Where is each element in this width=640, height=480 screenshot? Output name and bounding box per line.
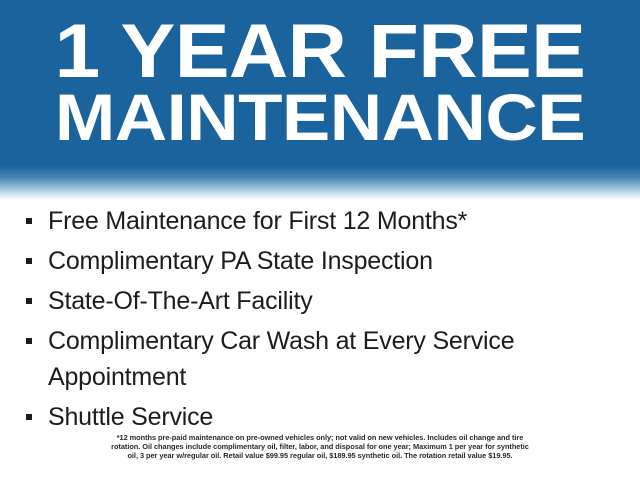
list-item-label: Complimentary Car Wash at Every Service … [48, 323, 640, 395]
square-bullet-icon [26, 258, 32, 264]
promo-headline-line-1: 1 YEAR FREE [0, 14, 640, 90]
disclaimer-line-3: oil, 3 per year w/regular oil. Retail va… [36, 451, 604, 460]
square-bullet-icon [26, 298, 32, 304]
disclaimer-line-2: rotation. Oil changes include compliment… [36, 442, 604, 451]
list-item: Complimentary PA State Inspection [0, 243, 640, 279]
list-item: Free Maintenance for First 12 Months* [0, 203, 640, 239]
list-item: Complimentary Car Wash at Every Service … [0, 323, 640, 395]
service-promo-card: 1 YEAR FREE MAINTENANCE Free Maintenance… [0, 0, 640, 480]
list-item-label: State-Of-The-Art Facility [48, 283, 640, 319]
square-bullet-icon [26, 218, 32, 224]
list-item-label: Shuttle Service [48, 399, 640, 435]
disclaimer-line-1: *12 months pre-paid maintenance on pre-o… [36, 433, 604, 442]
list-item: Shuttle Service [0, 399, 640, 435]
promo-banner: 1 YEAR FREE MAINTENANCE [0, 0, 640, 200]
benefits-list: Free Maintenance for First 12 Months* Co… [0, 203, 640, 439]
square-bullet-icon [26, 414, 32, 420]
list-item: State-Of-The-Art Facility [0, 283, 640, 319]
promo-headline-line-2: MAINTENANCE [0, 84, 640, 150]
disclaimer-fine-print: *12 months pre-paid maintenance on pre-o… [36, 433, 604, 460]
list-item-label: Complimentary PA State Inspection [48, 243, 640, 279]
list-item-label: Free Maintenance for First 12 Months* [48, 203, 640, 239]
square-bullet-icon [26, 338, 32, 344]
promo-banner-text-block: 1 YEAR FREE MAINTENANCE [0, 0, 640, 160]
